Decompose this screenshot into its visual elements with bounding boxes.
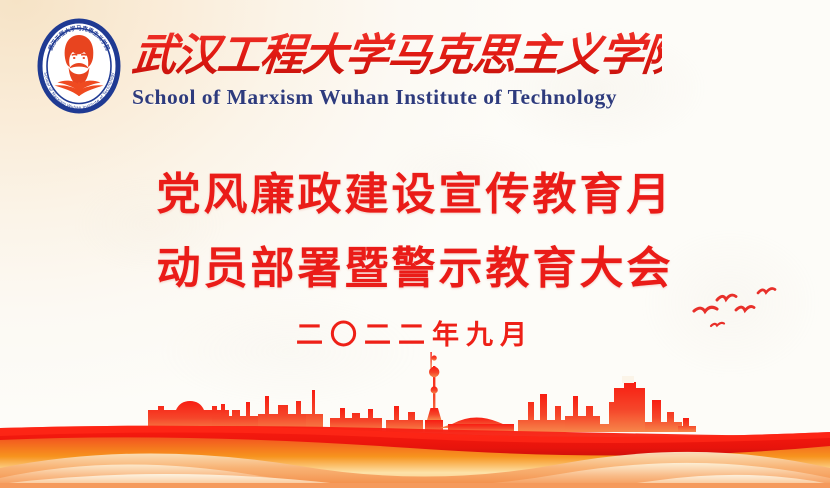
- header: 武汉工程大学马克思主义学院 School of Marxism Wuhan In…: [30, 10, 662, 122]
- org-name-en: School of Marxism Wuhan Institute of Tec…: [132, 87, 662, 109]
- header-text-group: 武汉工程大学马克思主义学院 School of Marxism Wuhan In…: [132, 23, 662, 109]
- school-emblem-logo: 武汉工程大学马克思主义学院 School of Marxism Wuhan In…: [30, 10, 128, 122]
- title-line-1: 党风廉政建设宣传教育月: [0, 158, 830, 232]
- poster-canvas: 武汉工程大学马克思主义学院 School of Marxism Wuhan In…: [0, 0, 830, 488]
- svg-text:武汉工程大学马克思主义学院: 武汉工程大学马克思主义学院: [132, 30, 662, 81]
- org-name-cn: 武汉工程大学马克思主义学院: [132, 23, 662, 85]
- bottom-scene: [0, 328, 830, 488]
